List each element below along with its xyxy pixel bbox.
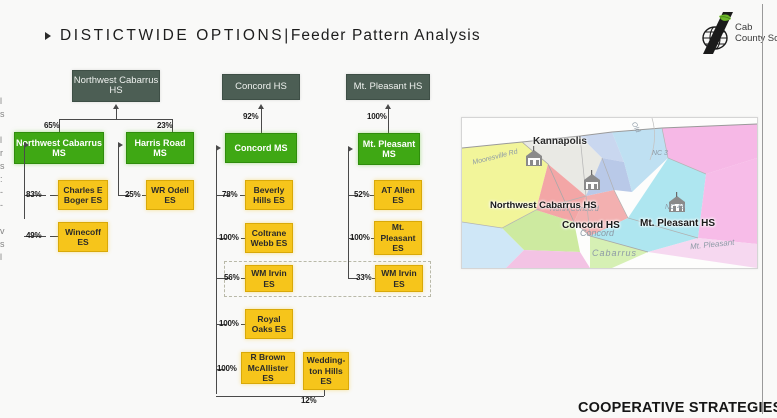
map-marker-text-northwest: Northwest Cabarrus HS	[490, 200, 597, 211]
footer-brand: COOPERATIVE STRATEGIES	[578, 400, 777, 416]
es-box-r-brown-mcallister[interactable]: R Brown McAllister ES	[241, 352, 295, 384]
connector-hs-concord-stem	[261, 109, 262, 133]
ms-box-mt-pleasant[interactable]: Mt. Pleasant MS	[358, 133, 420, 165]
pct-beverly-hills-es: 78%	[222, 190, 237, 199]
map-faint-cabarrus: Cabarrus	[592, 248, 637, 258]
connector-hs-mtp-stem	[388, 109, 389, 133]
hs-box-concord[interactable]: Concord HS	[222, 74, 300, 100]
right-edge-divider	[762, 4, 763, 414]
slide-canvas: l s l r s : - - v s l DISTICTWIDE OPTION…	[0, 0, 777, 418]
es-box-royal-oaks[interactable]: Royal Oaks ES	[245, 309, 293, 339]
connector-hs-nw-bracket	[59, 119, 173, 120]
hs-box-mt-pleasant[interactable]: Mt. Pleasant HS	[346, 74, 430, 100]
connector-concord-spine	[216, 148, 217, 394]
slide-title: DISTICTWIDE OPTIONS|Feeder Pattern Analy…	[45, 27, 481, 45]
es-box-wm-irvin-mt-pleasant[interactable]: WM Irvin ES	[375, 265, 423, 292]
es-box-mt-pleasant[interactable]: Mt. Pleasant ES	[374, 221, 422, 255]
pct-wm-irvin-es-mt-pleasant: 33%	[356, 273, 371, 282]
pct-concord-ms: 92%	[243, 112, 258, 121]
es-box-charles-e-boger[interactable]: Charles E Boger ES	[58, 180, 108, 210]
map-faint-nc-49: NC 49	[665, 204, 685, 211]
es-box-at-allen[interactable]: AT Allen ES	[374, 180, 422, 210]
ms-box-northwest-cabarrus[interactable]: Northwest Cabarrus MS	[14, 132, 104, 164]
triangle-bullet-icon	[45, 32, 51, 40]
map-marker-label-northwest-cabarrus-hs: Northwest Cabarrus HS	[490, 200, 597, 211]
pct-wr-odell-es: 25%	[125, 190, 140, 199]
map-marker-label-concord-hs: Concord HS	[562, 220, 620, 231]
es-box-wr-odell[interactable]: WR Odell ES	[146, 180, 194, 210]
connector-hs-nw-stem	[116, 109, 117, 119]
pct-royal-oaks-es: 100%	[219, 319, 239, 328]
ms-box-harris-road[interactable]: Harris Road MS	[126, 132, 194, 164]
es-box-winecoff[interactable]: Winecoff ES	[58, 222, 108, 252]
pct-mt-pleasant-ms: 100%	[367, 112, 387, 121]
connector-mtp-spine	[348, 149, 349, 279]
hs-box-northwest-cabarrus[interactable]: Northwest Cabarrus HS	[72, 70, 160, 102]
connector-nw-spine	[24, 145, 25, 219]
ms-box-concord[interactable]: Concord MS	[225, 133, 297, 163]
es-box-coltrane-webb[interactable]: Coltrane Webb ES	[245, 223, 293, 253]
pct-wm-irvin-es-concord: 56%	[224, 273, 239, 282]
pct-harris-road-ms: 23%	[157, 121, 172, 130]
logo-line-2: County Sch	[735, 33, 777, 44]
connector-hr-spine	[118, 145, 119, 195]
es-box-weddington-hills[interactable]: Wedding-ton Hills ES	[303, 352, 349, 390]
page-title-main: DISTICTWIDE OPTIONS|	[60, 27, 291, 44]
page-title: DISTICTWIDE OPTIONS|Feeder Pattern Analy…	[60, 27, 481, 45]
logo-line-1: Cab	[735, 22, 777, 33]
pct-mt-pleasant-es: 100%	[350, 233, 370, 242]
pct-weddington-hills-es: 12%	[301, 396, 316, 405]
pct-charles-e-boger-es: 83%	[26, 190, 41, 199]
pct-northwest-cabarrus-ms: 65%	[44, 121, 59, 130]
map-faint-nc-3: NC 3	[652, 150, 668, 157]
adjacent-slide-edge-sliver: l s l r s : - - v s l	[0, 95, 9, 415]
es-box-wm-irvin-concord[interactable]: WM Irvin ES	[245, 265, 293, 292]
pct-winecoff-es: 49%	[26, 231, 41, 240]
map-city-kannapolis: Kannapolis	[533, 136, 587, 147]
district-map[interactable]: Kannapolis Mooresville Rd Old NC 3 NC 49…	[461, 117, 758, 269]
pct-at-allen-es: 52%	[354, 190, 369, 199]
pct-coltrane-webb-es: 100%	[219, 233, 239, 242]
pct-r-brown-mcallister-es: 100%	[217, 364, 237, 373]
page-title-sub: Feeder Pattern Analysis	[291, 27, 481, 44]
logo-wordmark: Cab County Sch	[735, 22, 777, 44]
cabarrus-county-schools-logo: Cab County Sch	[689, 8, 777, 58]
connector-weddington-drop	[324, 390, 325, 396]
es-box-beverly-hills[interactable]: Beverly Hills ES	[245, 180, 293, 210]
map-marker-label-mt-pleasant-hs: Mt. Pleasant HS	[640, 218, 715, 229]
